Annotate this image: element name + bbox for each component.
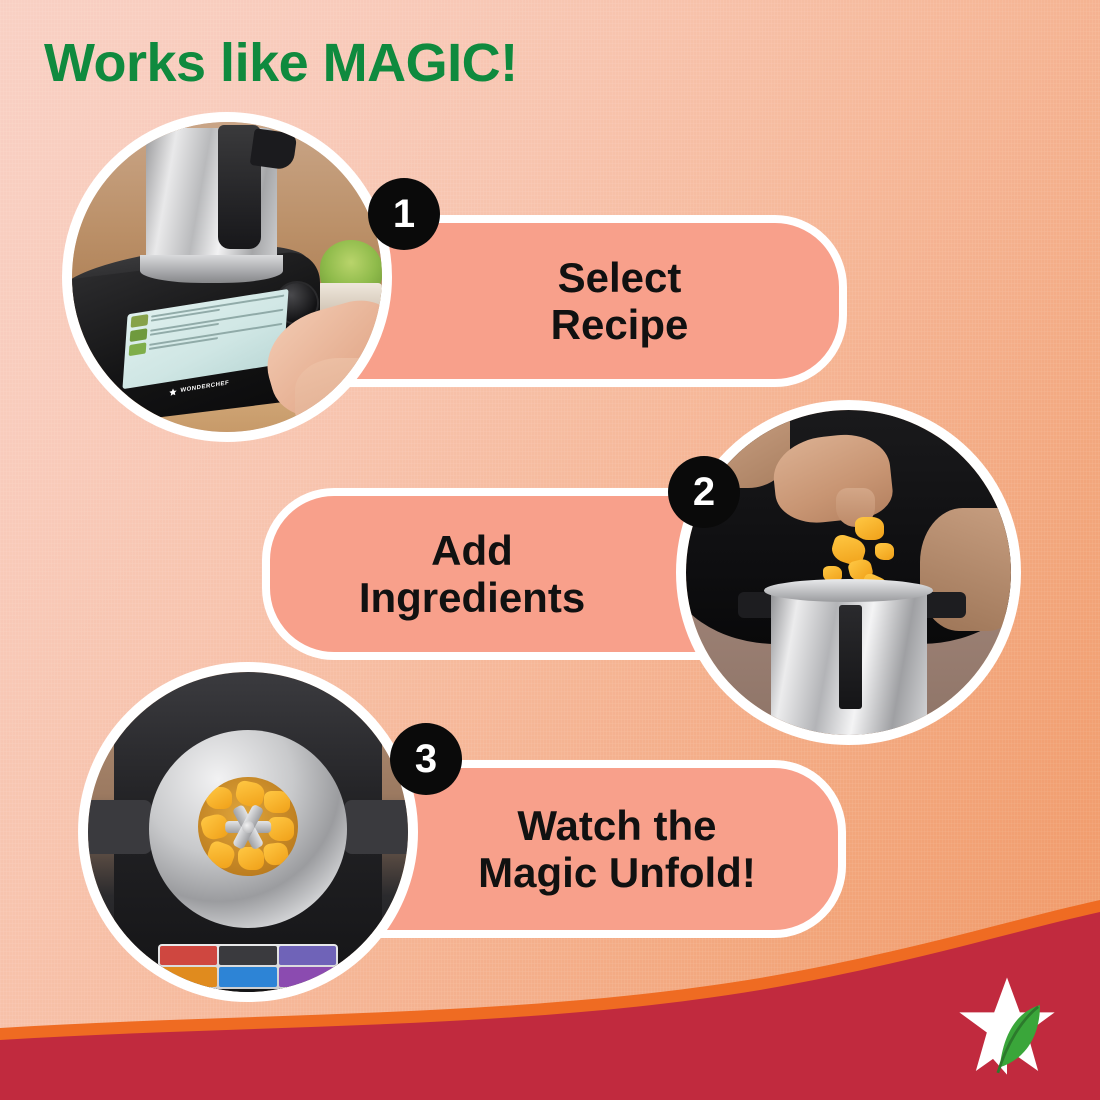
mango-cube [875,543,895,559]
photo-2-jar-strip [839,605,862,709]
mango-cube [262,841,289,866]
mango-cube [238,847,264,871]
page-title: Works like MAGIC! [44,32,518,94]
photo-3-jar-handle-right [344,800,408,854]
photo-1-hand [295,358,382,432]
mango-cube [234,780,266,809]
bottom-band [0,900,1100,1100]
recipe-thumbnail [128,342,146,356]
blade-hub [242,821,254,833]
bottom-band-shape [0,900,1100,1100]
step-badge-1: 1 [368,178,440,250]
photo-1-jar-lip [140,255,283,283]
step-2-label: Add Ingredients [359,527,585,621]
photo-3-jar-contents [198,777,297,876]
step-3-label: Watch the Magic Unfold! [478,802,756,896]
recipe-thumbnail [130,314,148,328]
mango-cube [206,787,232,809]
photo-3-steel-jar-top-view [149,730,347,928]
photo-2-jar-handle-right [920,592,966,618]
mango-cube [264,791,290,813]
mango-cube [855,517,884,540]
photo-3-jar-handle-left [88,800,152,854]
infographic-poster: Works like MAGIC! Select Recipe Add Ingr… [0,0,1100,1100]
wonderchef-star-leaf-logo [952,972,1062,1082]
mango-cube [268,817,294,841]
recipe-thumbnail [129,328,147,342]
step-badge-2: 2 [668,456,740,528]
step-2-photo [676,400,1021,745]
step-badge-3: 3 [390,723,462,795]
photo-2-jar-rim [764,579,933,602]
photo-1-brand-label: WONDERCHEF [180,381,229,395]
step-1-photo: WONDERCHEF [62,112,392,442]
wonderchef-star-icon [169,388,177,397]
step-1-label: Select Recipe [551,254,689,348]
